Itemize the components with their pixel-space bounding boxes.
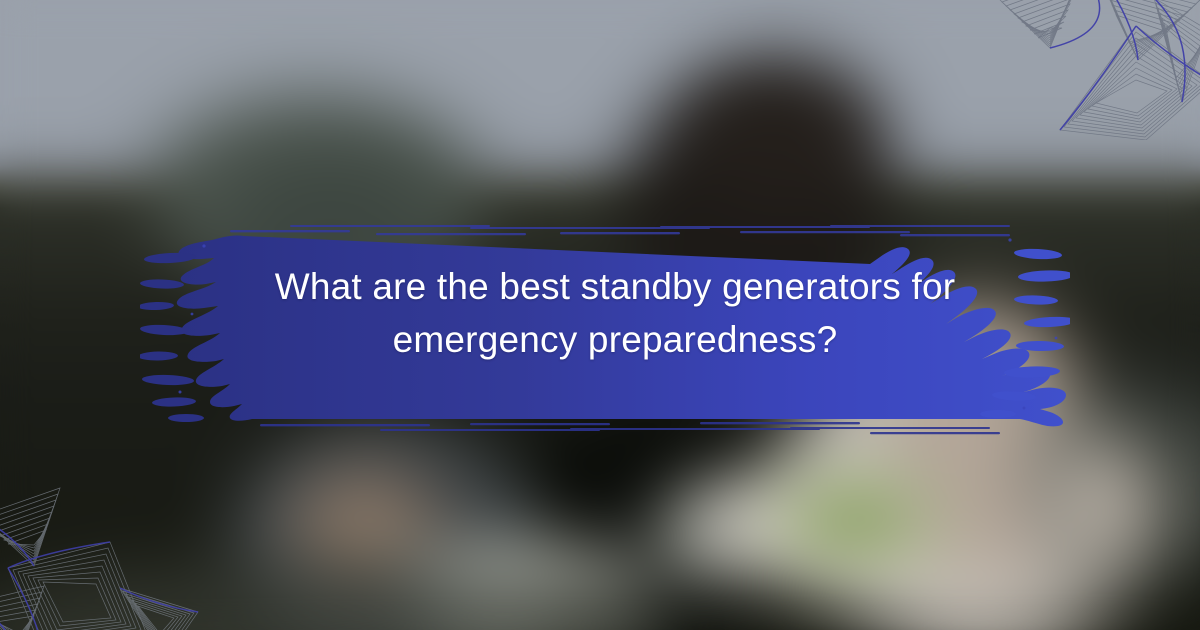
page-title: What are the best standby generators for…	[230, 260, 1000, 366]
share-card: What are the best standby generators for…	[0, 0, 1200, 630]
headline-banner: What are the best standby generators for…	[140, 196, 1070, 444]
